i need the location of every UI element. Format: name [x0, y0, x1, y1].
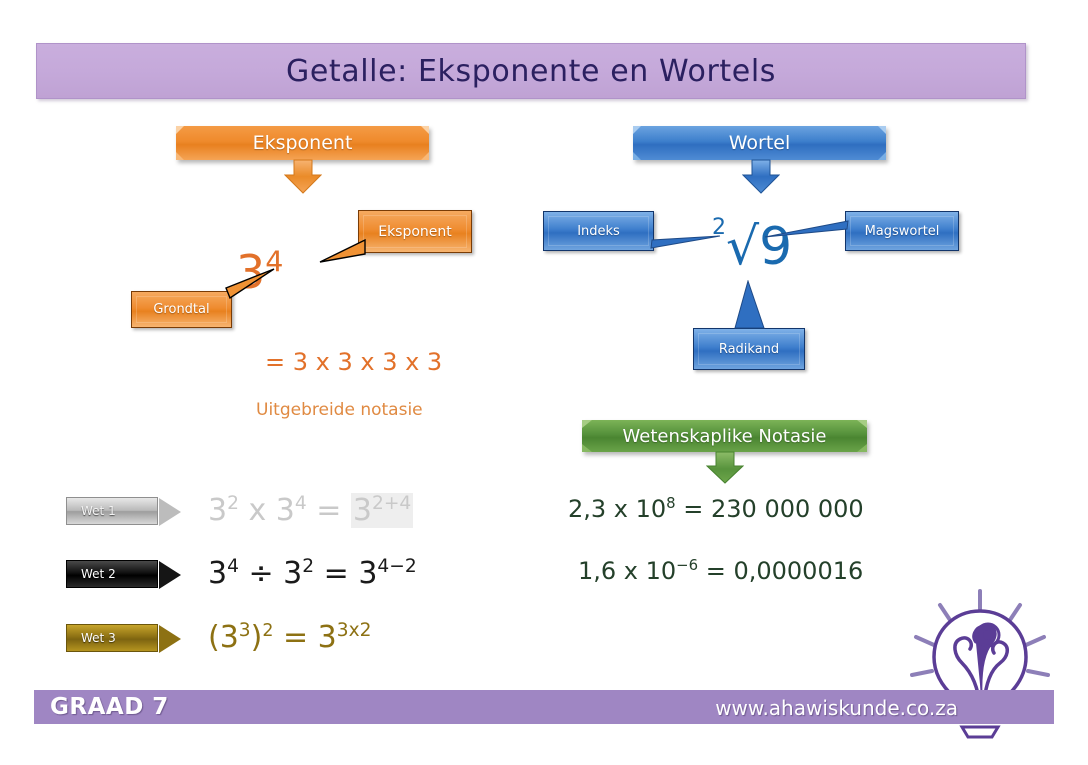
radikand-callout: Radikand — [693, 328, 805, 370]
sci-notation-example-2: 1,6 x 10−6 = 0,0000016 — [578, 556, 863, 585]
law-row-2: Wet 2 34 ÷ 32 = 34−2 — [66, 560, 516, 602]
sci2-result: = 0,0000016 — [698, 557, 863, 585]
radical-sign-icon: √ — [726, 217, 759, 277]
wetenskaplike-notasie-header-bar: Wetenskaplike Notasie — [582, 420, 867, 452]
law-expression-2: 34 ÷ 32 = 34−2 — [208, 556, 417, 591]
eksponent-callout: Eksponent — [358, 210, 472, 253]
sci1-exponent: 8 — [666, 494, 675, 512]
footer-website-url[interactable]: www.ahawiskunde.co.za — [715, 696, 958, 720]
law-badge-2: Wet 2 — [66, 560, 158, 588]
law-expression-3: (33)2 = 33x2 — [208, 620, 371, 655]
law-badge-3: Wet 3 — [66, 624, 158, 652]
grondtal-callout-label: Grondtal — [153, 302, 209, 317]
law-badge-2-label: Wet 2 — [81, 567, 116, 581]
law-row-3: Wet 3 (33)2 = 33x2 — [66, 624, 516, 666]
eksponent-pointer-wedge — [318, 238, 366, 266]
law-badge-1-arrow-icon — [159, 498, 181, 526]
law-badge-3-label: Wet 3 — [81, 631, 116, 645]
magswortel-callout-label: Magswortel — [865, 224, 940, 239]
radikand-pointer-wedge — [730, 280, 770, 330]
wetenskaplike-notasie-label: Wetenskaplike Notasie — [623, 426, 827, 447]
magswortel-callout: Magswortel — [845, 211, 959, 251]
footer-grade-label: GRAAD 7 — [50, 694, 169, 720]
slide-canvas: Getalle: Eksponente en Wortels Eksponent… — [0, 0, 1088, 765]
expanded-form-caption: Uitgebreide notasie — [256, 400, 423, 420]
sci2-mantissa: 1,6 x 10 — [578, 557, 676, 585]
expanded-form-text: = 3 x 3 x 3 x 3 — [265, 348, 442, 376]
radikand-callout-label: Radikand — [719, 342, 779, 357]
law-badge-2-arrow-icon — [159, 561, 181, 589]
law-row-1: Wet 1 32 x 34 = 32+4 — [66, 497, 516, 539]
law-badge-1-label: Wet 1 — [81, 504, 116, 518]
eksponent-header-bar: Eksponent — [176, 126, 429, 160]
sci1-result: = 230 000 000 — [676, 495, 864, 523]
magswortel-pointer-wedge — [763, 215, 849, 241]
sci1-mantissa: 2,3 x 10 — [568, 495, 666, 523]
wortel-down-arrow-icon — [742, 159, 780, 195]
indeks-pointer-wedge — [650, 228, 722, 254]
indeks-callout: Indeks — [543, 211, 654, 251]
wetenskaplike-down-arrow-icon — [706, 451, 744, 485]
page-title: Getalle: Eksponente en Wortels — [286, 54, 776, 89]
law-badge-1: Wet 1 — [66, 497, 158, 525]
indeks-callout-label: Indeks — [577, 224, 620, 239]
eksponent-down-arrow-icon — [284, 159, 322, 195]
eksponent-header-label: Eksponent — [253, 132, 353, 154]
wortel-header-bar: Wortel — [633, 126, 886, 160]
sci2-exponent: −6 — [676, 556, 698, 574]
slide-title-bar: Getalle: Eksponente en Wortels — [36, 43, 1026, 99]
wortel-header-label: Wortel — [729, 132, 791, 154]
sci-notation-example-1: 2,3 x 108 = 230 000 000 — [568, 494, 864, 523]
law-badge-3-arrow-icon — [159, 625, 181, 653]
law-expression-1: 32 x 34 = 32+4 — [208, 493, 413, 528]
eksponent-callout-label: Eksponent — [378, 224, 452, 240]
grondtal-pointer-wedge — [224, 268, 276, 304]
grondtal-callout: Grondtal — [131, 291, 232, 328]
